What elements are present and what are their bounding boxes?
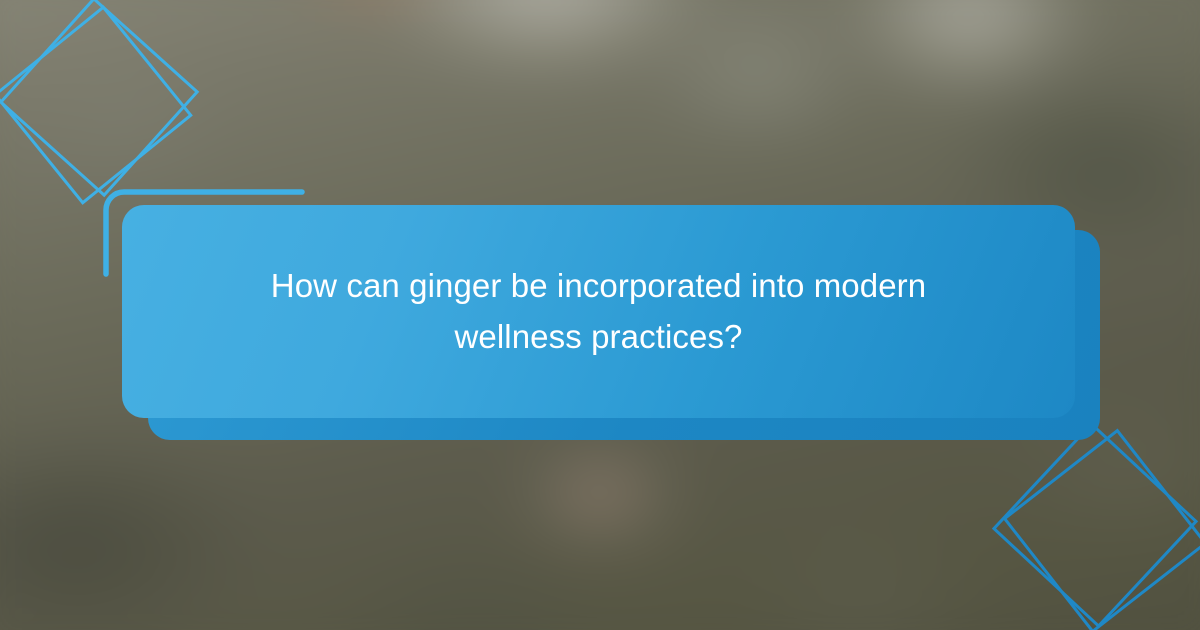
question-text: How can ginger be incorporated into mode… xyxy=(204,261,994,361)
question-card-stage: How can ginger be incorporated into mode… xyxy=(0,0,1200,630)
question-card[interactable]: How can ginger be incorporated into mode… xyxy=(122,205,1075,418)
